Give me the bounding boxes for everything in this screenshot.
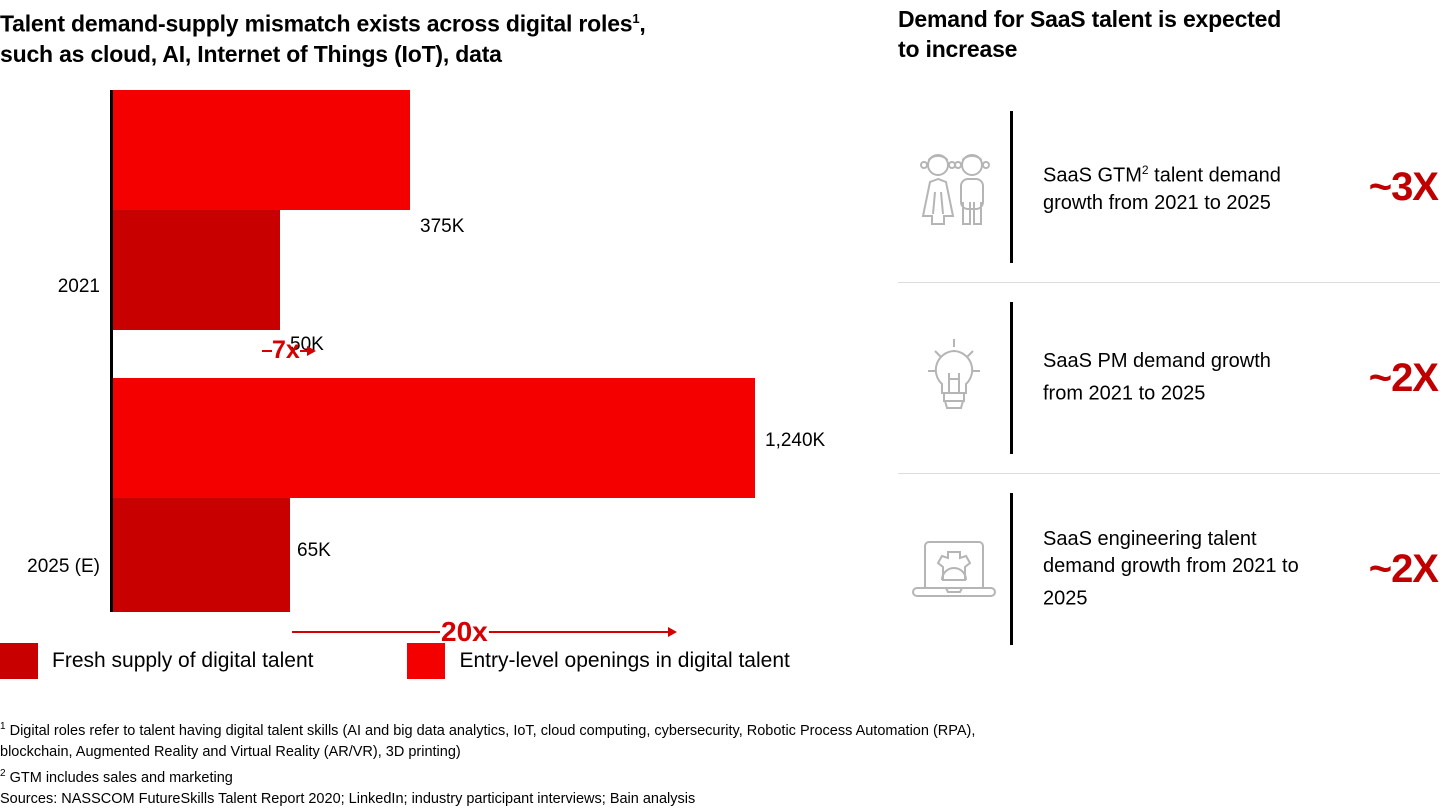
bar-2025-entry-level <box>113 378 755 498</box>
annotation-line-left-7x <box>262 350 272 352</box>
footnote-2-text: GTM includes sales and marketing <box>6 770 233 786</box>
right-title-line1: Demand for SaaS talent is expected <box>898 6 1281 32</box>
bar-label-2021-entry-level: 375K <box>420 216 464 238</box>
footnote-1-continued: blockchain, Augmented Reality and Virtua… <box>0 742 1440 763</box>
left-title-line2: such as cloud, AI, Internet of Things (I… <box>0 41 502 67</box>
row-value-saas-gtm: ~3X <box>1318 165 1440 210</box>
laptop-gear-icon <box>898 526 1010 612</box>
legend-label-fresh-supply: Fresh supply of digital talent <box>52 649 313 673</box>
footnote-2: 2 GTM includes sales and marketing <box>0 763 1440 789</box>
row-text-saas-pm: SaaS PM demand growth from 2021 to 2025 <box>1013 348 1318 408</box>
row-value-saas-engineering: ~2X <box>1318 547 1440 592</box>
right-page-title: Demand for SaaS talent is expected to in… <box>898 4 1438 64</box>
panel-row-saas-pm: SaaS PM demand growth from 2021 to 2025 … <box>898 283 1440 473</box>
bar-2021-fresh-supply <box>113 210 280 330</box>
annotation-arrowhead-7x <box>307 346 316 356</box>
panel-row-saas-engineering: SaaS engineering talent demand growth fr… <box>898 474 1440 664</box>
slide-root: Talent demand-supply mismatch exists acr… <box>0 0 1440 810</box>
row-text-part1-3: SaaS engineering talent demand growth fr… <box>1043 528 1299 610</box>
legend-swatch-fresh-supply <box>0 643 38 679</box>
legend-swatch-entry-level <box>407 643 445 679</box>
bar-label-2025-entry-level: 1,240K <box>765 430 825 452</box>
panel-row-saas-gtm: SaaS GTM2 talent demand growth from 2021… <box>898 92 1440 282</box>
row-text-saas-gtm: SaaS GTM2 talent demand growth from 2021… <box>1013 157 1318 217</box>
legend-item-fresh-supply: Fresh supply of digital talent <box>0 643 313 679</box>
row-text-part1-2: SaaS PM demand growth from 2021 to 2025 <box>1043 350 1271 405</box>
left-title-line1: Talent demand-supply mismatch exists acr… <box>0 11 632 37</box>
category-label-2021: 2021 <box>0 276 108 298</box>
row-value-saas-pm: ~2X <box>1318 356 1440 401</box>
chart-legend: Fresh supply of digital talent Entry-lev… <box>0 643 790 679</box>
annotation-line-right-20x <box>489 631 669 633</box>
lightbulb-icon <box>898 335 1010 421</box>
bar-chart: 2021 2025 (E) 375K 50K 7x 1,240K 65K 20x <box>0 78 880 628</box>
row-text-saas-engineering: SaaS engineering talent demand growth fr… <box>1013 526 1318 613</box>
footnote-1: 1 Digital roles refer to talent having d… <box>0 716 1440 742</box>
two-people-icon <box>898 144 1010 230</box>
bar-2025-fresh-supply <box>113 498 290 612</box>
multiplier-annotation-7x: 7x <box>262 336 316 365</box>
footnotes-block: 1 Digital roles refer to talent having d… <box>0 716 1440 810</box>
annotation-text-7x: 7x <box>272 336 300 365</box>
left-page-title: Talent demand-supply mismatch exists acr… <box>0 4 860 69</box>
left-title-comma: , <box>639 11 645 37</box>
category-label-2025: 2025 (E) <box>0 556 108 578</box>
legend-label-entry-level: Entry-level openings in digital talent <box>459 649 789 673</box>
legend-item-entry-level: Entry-level openings in digital talent <box>407 643 789 679</box>
bar-2021-entry-level <box>113 90 410 210</box>
footnote-1-line1: Digital roles refer to talent having dig… <box>6 723 976 739</box>
right-title-line2: to increase <box>898 36 1017 62</box>
bar-label-2025-fresh-supply: 65K <box>297 540 331 562</box>
row-text-footnote-marker-1: 2 <box>1142 163 1149 177</box>
annotation-arrowhead-20x <box>668 627 677 637</box>
row-text-part1-1: SaaS GTM <box>1043 165 1142 187</box>
saas-demand-panel: SaaS GTM2 talent demand growth from 2021… <box>898 92 1440 664</box>
annotation-line-left-20x <box>292 631 440 633</box>
sources-line: Sources: NASSCOM FutureSkills Talent Rep… <box>0 789 1440 810</box>
